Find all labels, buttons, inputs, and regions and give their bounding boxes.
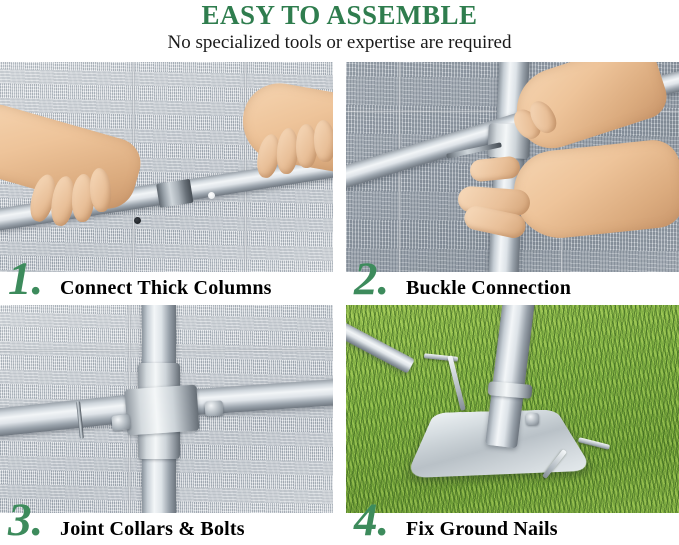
steps-grid: 1. Connect Thick Columns	[0, 62, 679, 545]
plate-bolt-icon	[526, 413, 539, 425]
step-card-1: 1. Connect Thick Columns	[0, 62, 333, 305]
bolt-left-icon	[111, 414, 130, 431]
step-4-photo	[346, 305, 679, 513]
page-title: EASY TO ASSEMBLE	[0, 1, 679, 29]
pole-pin-icon	[208, 192, 215, 199]
step-3-number: 3.	[8, 497, 43, 544]
step-2-photo	[346, 62, 679, 272]
step-2-label: Buckle Connection	[406, 276, 571, 300]
step-card-4: 4. Fix Ground Nails	[346, 305, 679, 545]
page-subtitle: No specialized tools or expertise are re…	[0, 31, 679, 55]
step-2-caption: 2. Buckle Connection	[346, 272, 679, 305]
bolt-right-icon	[204, 400, 223, 416]
pole-hole-icon	[134, 217, 141, 224]
step-card-2: 2. Buckle Connection	[346, 62, 679, 305]
step-4-caption: 4. Fix Ground Nails	[346, 513, 679, 545]
step-1-photo	[0, 62, 333, 272]
joint-collar-sleeve-icon	[124, 385, 199, 436]
step-4-label: Fix Ground Nails	[406, 517, 558, 541]
step-1-number: 1.	[8, 256, 43, 303]
header: EASY TO ASSEMBLE No specialized tools or…	[0, 0, 679, 55]
step-2-number: 2.	[354, 256, 389, 303]
step-1-label: Connect Thick Columns	[60, 276, 272, 300]
step-1-caption: 1. Connect Thick Columns	[0, 272, 333, 305]
easy-to-assemble-infographic: EASY TO ASSEMBLE No specialized tools or…	[0, 0, 679, 545]
step-card-3: 3. Joint Collars & Bolts	[0, 305, 333, 545]
step-3-caption: 3. Joint Collars & Bolts	[0, 513, 333, 545]
step-3-label: Joint Collars & Bolts	[60, 517, 245, 541]
step-3-photo	[0, 305, 333, 513]
step-4-number: 4.	[354, 497, 389, 544]
